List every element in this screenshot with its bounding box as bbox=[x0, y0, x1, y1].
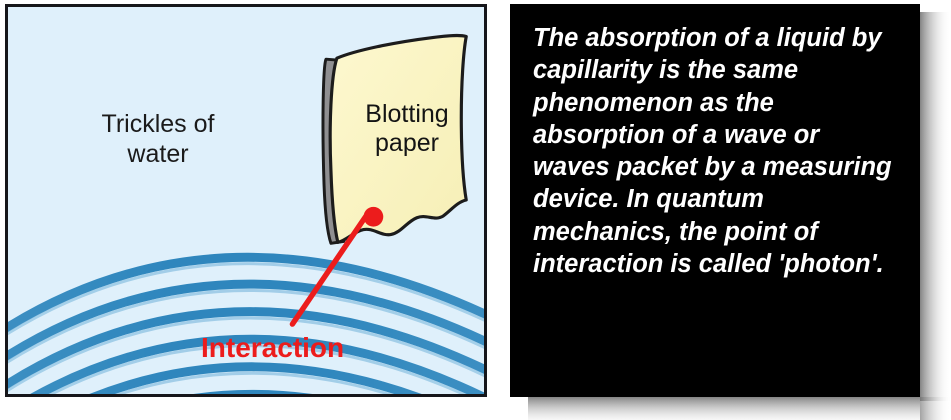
capillarity-illustration-panel: Trickles of water Blotting paper Interac… bbox=[5, 4, 487, 397]
label-interaction: Interaction bbox=[201, 332, 344, 364]
caption-panel: The absorption of a liquid by capillarit… bbox=[510, 4, 920, 397]
figure-root: Trickles of water Blotting paper Interac… bbox=[0, 0, 951, 420]
red-dot-icon bbox=[364, 207, 384, 227]
label-trickles-of-water: Trickles of water bbox=[60, 110, 256, 169]
label-blotting-paper: Blotting paper bbox=[348, 100, 466, 158]
water-waves-icon bbox=[8, 257, 484, 394]
caption-text: The absorption of a liquid by capillarit… bbox=[533, 22, 901, 280]
